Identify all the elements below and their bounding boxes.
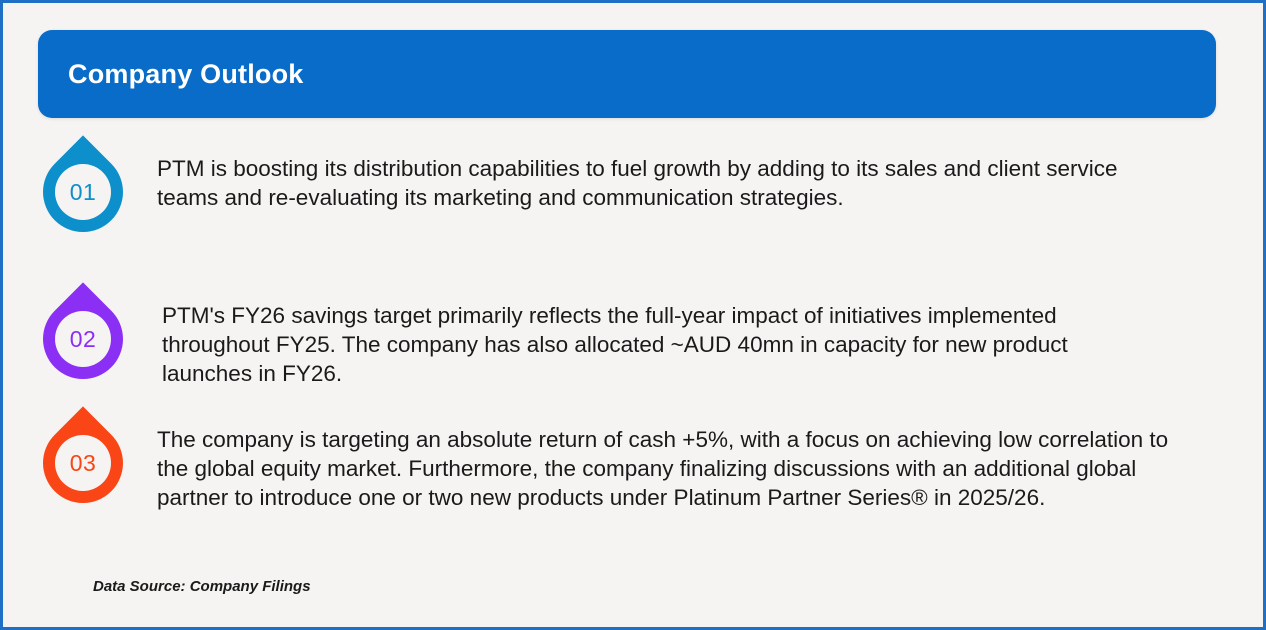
- badge-inner-circle: 03: [55, 435, 111, 491]
- number-badge-1: 01: [41, 148, 135, 236]
- outlook-item-1: 01 PTM is boosting its distribution capa…: [41, 148, 1147, 236]
- outlook-item-text: The company is targeting an absolute ret…: [157, 419, 1202, 512]
- badge-inner-circle: 02: [55, 311, 111, 367]
- badge-number-label: 01: [70, 179, 97, 206]
- slide-canvas: Company Outlook 01 PTM is boosting its d…: [0, 0, 1266, 630]
- outlook-item-3: 03 The company is targeting an absolute …: [41, 419, 1202, 512]
- badge-number-label: 03: [70, 450, 97, 477]
- header-banner: Company Outlook: [38, 30, 1216, 118]
- number-badge-2: 02: [41, 295, 135, 383]
- outlook-item-text: PTM is boosting its distribution capabil…: [157, 148, 1147, 212]
- badge-number-label: 02: [70, 326, 97, 353]
- number-badge-3: 03: [41, 419, 135, 507]
- badge-inner-circle: 01: [55, 164, 111, 220]
- outlook-item-2: 02 PTM's FY26 savings target primarily r…: [41, 295, 1152, 388]
- outlook-item-text: PTM's FY26 savings target primarily refl…: [162, 295, 1152, 388]
- data-source-note: Data Source: Company Filings: [93, 578, 311, 595]
- page-title: Company Outlook: [68, 59, 304, 90]
